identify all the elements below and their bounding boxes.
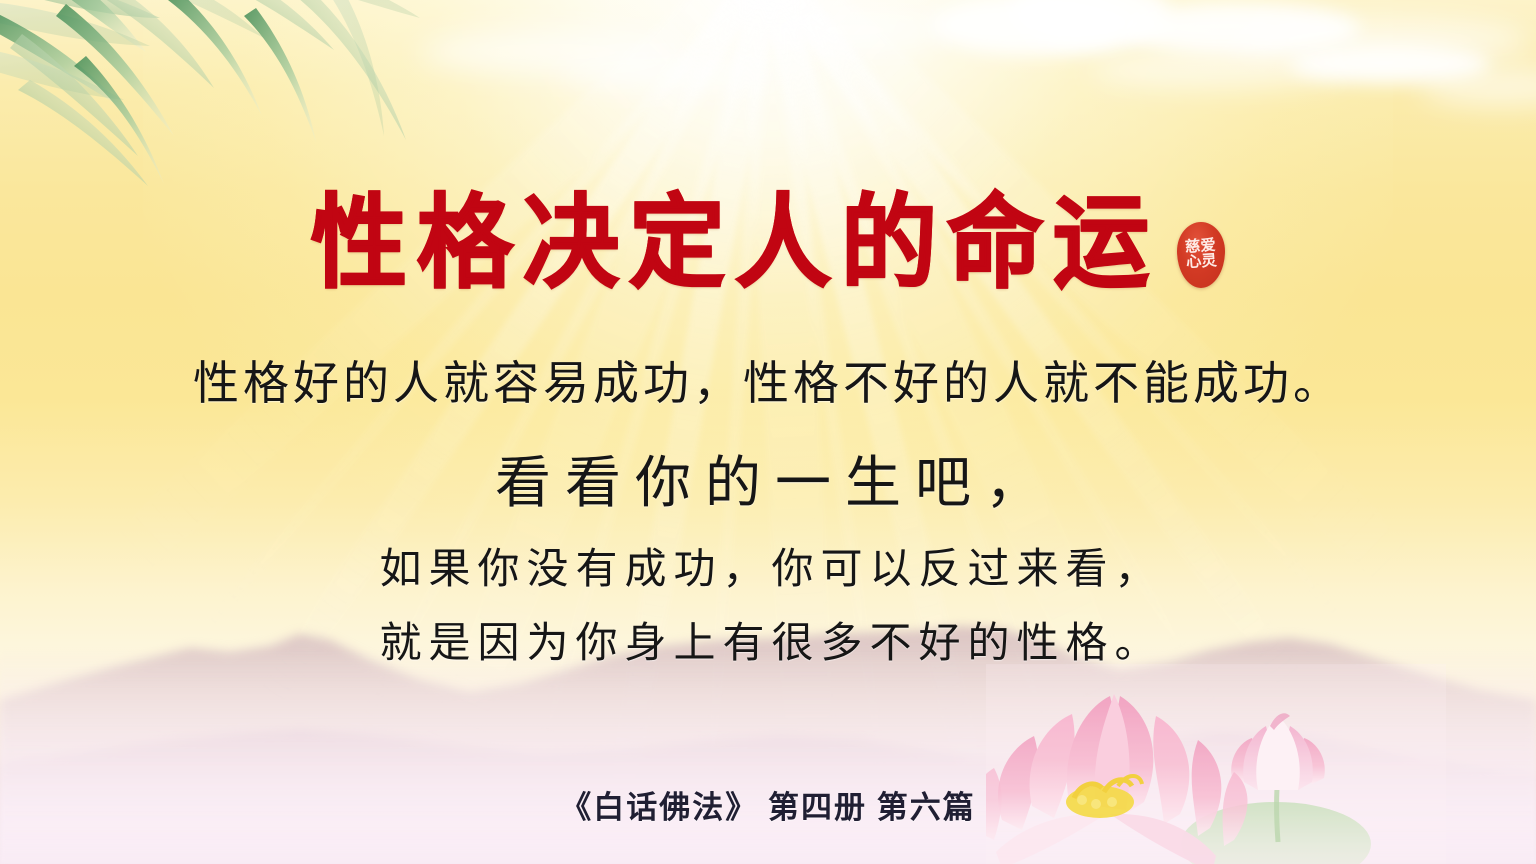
seal-stamp: 慈爱心灵 (1177, 222, 1225, 288)
seal-text: 慈爱心灵 (1183, 239, 1220, 272)
title-row: 性格决定人的命运 慈爱心灵 (0, 196, 1536, 292)
body-line-1: 性格好的人就容易成功，性格不好的人就不能成功。 (0, 352, 1536, 416)
page-title: 性格决定人的命运 (311, 193, 1159, 295)
body-line-2: 看看你的一生吧， (0, 446, 1536, 522)
body-line-3: 如果你没有成功，你可以反过来看， (0, 540, 1536, 600)
body-line-4: 就是因为你身上有很多不好的性格。 (0, 614, 1536, 674)
source-footer: 《白话佛法》 第四册 第六篇 (0, 782, 1536, 827)
body-text-block: 性格好的人就容易成功，性格不好的人就不能成功。 看看你的一生吧， 如果你没有成功… (0, 352, 1536, 674)
poster-content: 性格决定人的命运 慈爱心灵 性格好的人就容易成功，性格不好的人就不能成功。 看看… (0, 0, 1536, 864)
source-citation: 《白话佛法》 第四册 第六篇 (560, 790, 976, 825)
poster-canvas: 性格决定人的命运 慈爱心灵 性格好的人就容易成功，性格不好的人就不能成功。 看看… (0, 0, 1536, 864)
